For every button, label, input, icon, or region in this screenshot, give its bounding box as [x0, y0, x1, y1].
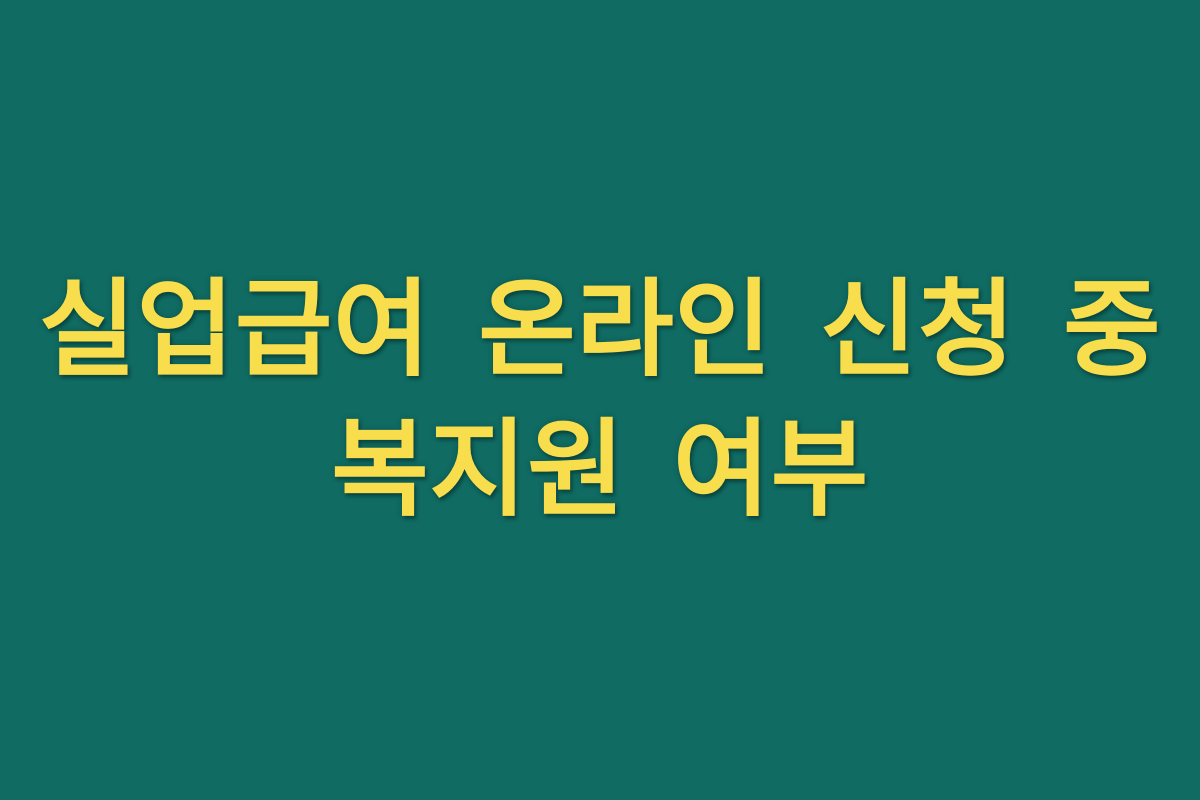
headline-text: 실업급여 온라인 신청 중 복지원 여부	[30, 260, 1170, 540]
headline-line-1: 실업급여 온라인 신청 중	[30, 260, 1170, 400]
headline-line-2: 복지원 여부	[30, 400, 1170, 540]
banner-canvas: 실업급여 온라인 신청 중 복지원 여부	[0, 0, 1200, 800]
